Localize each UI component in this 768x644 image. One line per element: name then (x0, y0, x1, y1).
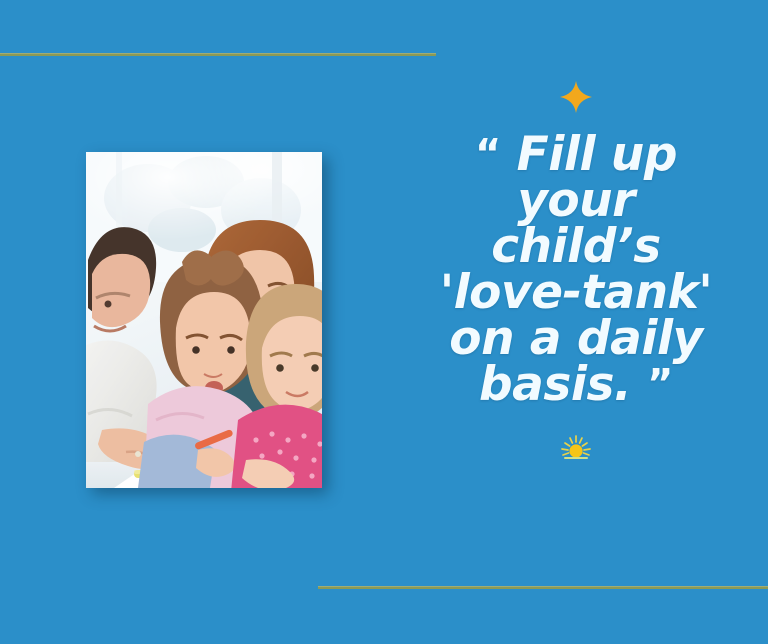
quote-text: “ Fill up your child’s 'love-tank' on a … (400, 132, 752, 408)
family-photo-image (86, 152, 322, 488)
top-divider-line (0, 53, 436, 56)
quote-column: “ Fill up your child’s 'love-tank' on a … (400, 60, 752, 584)
open-quote-mark: “ (475, 132, 501, 178)
four-point-star-icon (559, 80, 593, 114)
quote-card: “ Fill up your child’s 'love-tank' on a … (0, 0, 768, 644)
bottom-divider-line (318, 586, 768, 589)
close-quote-mark: ” (647, 362, 673, 408)
family-photo (86, 152, 322, 488)
rising-sun-icon (559, 434, 593, 462)
